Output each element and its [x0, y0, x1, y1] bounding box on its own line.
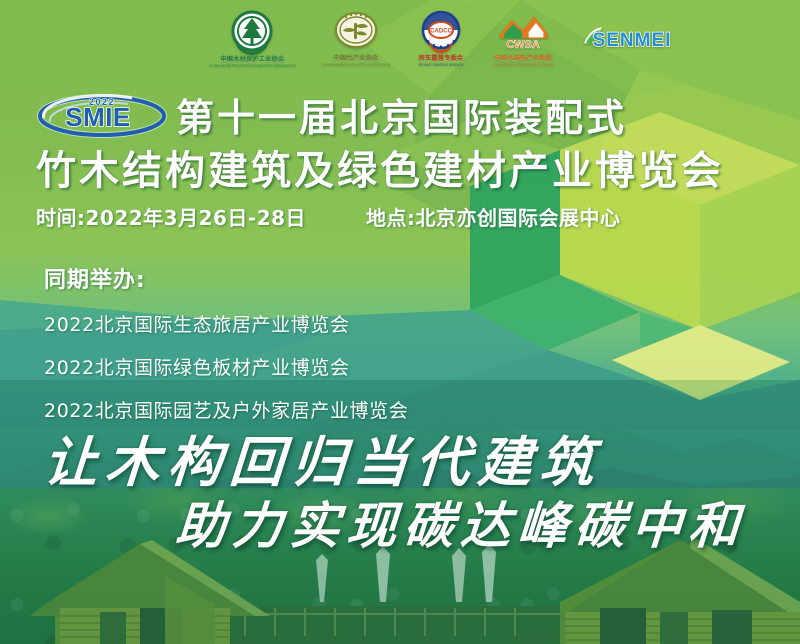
logo-label-cn: 中国木结构产业联盟 — [494, 56, 552, 63]
cadcc-badge-icon: CADCC — [416, 10, 466, 54]
concurrent-events-block: 同期举办: 2022北京国际生态旅居产业博览会 2022北京国际绿色板材产业博览… — [44, 262, 564, 439]
svg-text:SENMEI: SENMEI — [593, 30, 672, 51]
logo-china-wood-protection: 中国木材保护工业协会 CHINA WOOD PROTECTION INDUSTR… — [209, 9, 296, 68]
headline-line1-row: SMIE 2022 第十一届北京国际装配式 — [0, 88, 800, 140]
tree-shield-icon — [227, 9, 277, 55]
logo-label-en: CHINA BAMBOO INDUSTRY ASSOCIATION — [322, 63, 390, 67]
logo-label-en: RV AND CAMPING BRANCH — [419, 63, 464, 67]
logo-cwsa-wood-structure: CWSA 中国木结构产业联盟 CHINA WOOD STRUCTURE ALLI… — [492, 10, 554, 67]
concurrent-events-title: 同期举办: — [44, 262, 564, 294]
slogan-line2: 助力实现碳达峰碳中和 — [173, 486, 748, 558]
logo-bamboo-industry: 中国竹产业协会 CHINA BAMBOO INDUSTRY ASSOCIATIO… — [322, 10, 390, 67]
headline-line1: 第十一届北京国际装配式 — [176, 87, 627, 142]
logo-cadcc-rv-camping: CADCC 房车露营专委会 RV AND CAMPING BRANCH — [416, 10, 466, 67]
event-meta-row: 时间:2022年3月26日-28日 地点:北京亦创国际会展中心 — [36, 202, 756, 231]
association-logo-bar: 中国木材保护工业协会 CHINA WOOD PROTECTION INDUSTR… — [0, 0, 800, 78]
bamboo-seal-icon — [331, 10, 381, 54]
event-date: 时间:2022年3月26日-28日 — [36, 202, 306, 231]
logo-label-en: CHINA WOOD PROTECTION INDUSTRY ASSOCIATI… — [209, 64, 296, 68]
house-cwsa-icon: CWSA — [492, 10, 554, 54]
svg-text:CWSA: CWSA — [506, 39, 540, 51]
smie-oval-icon: SMIE 2022 — [36, 90, 168, 138]
logo-label-cn: 中国竹产业协会 — [334, 56, 379, 63]
leaf-senmei-icon: SENMEI — [580, 21, 676, 55]
smie-logo: SMIE 2022 — [36, 90, 168, 138]
svg-text:CADCC: CADCC — [430, 29, 452, 35]
exhibition-poster: 中国木材保护工业协会 CHINA WOOD PROTECTION INDUSTR… — [0, 0, 800, 644]
logo-label-en: CHINA WOOD STRUCTURE ALLIANCE — [493, 63, 554, 67]
logo-label-cn: 中国木材保护工业协会 — [220, 57, 284, 64]
event-venue: 地点:北京亦创国际会展中心 — [366, 202, 621, 231]
concurrent-event-item: 2022北京国际生态旅居产业博览会 — [44, 310, 564, 337]
concurrent-event-item: 2022北京国际绿色板材产业博览会 — [44, 353, 564, 380]
smie-year: 2022 — [89, 97, 115, 107]
headline-line2: 竹木结构建筑及绿色建材产业博览会 — [0, 138, 800, 196]
headline-block: SMIE 2022 第十一届北京国际装配式 竹木结构建筑及绿色建材产业博览会 — [0, 88, 800, 196]
logo-label-cn: 房车露营专委会 — [419, 56, 464, 63]
logo-senmei: SENMEI — [580, 21, 676, 57]
